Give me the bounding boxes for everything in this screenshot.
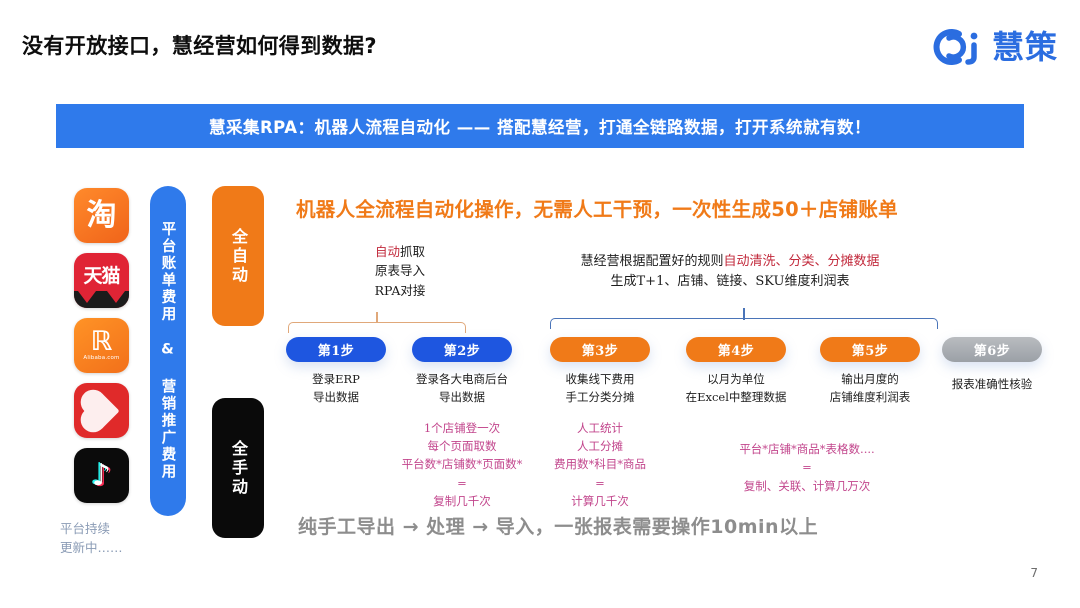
- step-2-desc: 登录各大电商后台 导出数据: [400, 371, 524, 407]
- taobao-glyph: 淘: [87, 201, 117, 231]
- step-1-pill[interactable]: 第1步: [286, 337, 386, 362]
- step-3-pill[interactable]: 第3步: [550, 337, 650, 362]
- step-6[interactable]: 第6步 报表准确性核验: [930, 337, 1054, 394]
- bracket-steps-1-2: [288, 312, 464, 334]
- step-3[interactable]: 第3步 收集线下费用 手工分类分摊 人工统计 人工分摊 费用数*科目*商品 = …: [538, 337, 662, 511]
- mode-manual-capsule: 全手动: [212, 398, 264, 538]
- logo-text: 慧策: [992, 31, 1058, 63]
- step-5-desc: 输出月度的 店铺维度利润表: [808, 371, 932, 407]
- annotation-left-line1-rest: 抓取: [400, 244, 425, 259]
- bracket-left-bar: [288, 322, 466, 333]
- annotation-auto-capture: 自动抓取 原表导入 RPA对接: [330, 242, 470, 300]
- mode-auto-capsule: 全自动: [212, 186, 264, 326]
- step-6-pill[interactable]: 第6步: [942, 337, 1042, 362]
- bracket-right-bar: [550, 318, 938, 329]
- annotation-right-line1-plain: 慧经营根据配置好的规则: [580, 254, 723, 269]
- cost-capsule-label: 平台账单费用 & 营销推广费用: [158, 221, 179, 481]
- annotation-left-line1-hl: 自动: [375, 244, 400, 259]
- slide-canvas: 没有开放接口，慧经营如何得到数据? 慧策 慧采集RPA：机器人流程自动化 —— …: [0, 0, 1080, 608]
- brand-logo: 慧策: [929, 24, 1058, 70]
- step-1-desc: 登录ERP 导出数据: [274, 371, 398, 407]
- step-5-pill[interactable]: 第5步: [820, 337, 920, 362]
- steps-4-5-shared-extra: 平台*店铺*商品*表格数.... = 复制、关联、计算几万次: [672, 440, 942, 495]
- headline-banner: 慧采集RPA：机器人流程自动化 —— 搭配慧经营，打通全链路数据，打开系统就有数…: [56, 104, 1024, 148]
- step-1[interactable]: 第1步 登录ERP 导出数据: [274, 337, 398, 407]
- platform-icon-column: 淘 天猫 ℝ Alibaba.com ♪: [74, 188, 132, 513]
- step-4-desc: 以月为单位 在Excel中整理数据: [674, 371, 798, 407]
- step-6-desc: 报表准确性核验: [930, 376, 1054, 394]
- step-3-extra: 人工统计 人工分摊 费用数*科目*商品 = 计算几千次: [538, 419, 662, 511]
- mode-auto-label: 全自动: [226, 228, 250, 285]
- huice-swirl-logo-icon: [929, 24, 985, 70]
- step-4[interactable]: 第4步 以月为单位 在Excel中整理数据: [674, 337, 798, 407]
- annotation-right-line2: 生成T+1、店铺、链接、SKU维度利润表: [520, 272, 940, 292]
- step-5[interactable]: 第5步 输出月度的 店铺维度利润表: [808, 337, 932, 407]
- mode-manual-label: 全手动: [226, 440, 250, 497]
- annotation-right-line1: 慧经营根据配置好的规则自动清洗、分类、分摊数据: [520, 252, 940, 272]
- page-title: 没有开放接口，慧经营如何得到数据?: [22, 30, 377, 60]
- annotation-left-line3: RPA对接: [330, 281, 470, 300]
- douyin-glyph: ♪: [92, 461, 111, 491]
- tmall-icon: 天猫: [74, 253, 129, 308]
- douyin-icon: ♪: [74, 448, 129, 503]
- heart-icon: [84, 393, 119, 428]
- step-2-extra: 1个店铺登一次 每个页面取数 平台数*店铺数*页面数* = 复制几千次: [400, 419, 524, 511]
- step-4-pill[interactable]: 第4步: [686, 337, 786, 362]
- annotation-right-line1-hl: 自动清洗、分类、分摊数据: [724, 254, 880, 269]
- tmall-glyph: 天猫: [83, 267, 119, 286]
- step-2[interactable]: 第2步 登录各大电商后台 导出数据 1个店铺登一次 每个页面取数 平台数*店铺数…: [400, 337, 524, 511]
- annotation-rules-engine: 慧经营根据配置好的规则自动清洗、分类、分摊数据 生成T+1、店铺、链接、SKU维…: [520, 252, 940, 292]
- main-headline: 机器人全流程自动化操作，无需人工干预，一次性生成50＋店铺账单: [296, 193, 898, 222]
- bracket-steps-3-5: [550, 308, 936, 334]
- tmall-cat-shape: [74, 291, 129, 308]
- step-3-desc: 收集线下费用 手工分类分摊: [538, 371, 662, 407]
- step-2-pill[interactable]: 第2步: [412, 337, 512, 362]
- annotation-left-line1: 自动抓取: [330, 242, 470, 261]
- cost-capsule: 平台账单费用 & 营销推广费用: [150, 186, 186, 516]
- platform-update-note: 平台持续 更新中……: [60, 520, 170, 558]
- page-number: 7: [1030, 566, 1038, 580]
- taobao-icon: 淘: [74, 188, 129, 243]
- banner-text: 慧采集RPA：机器人流程自动化 —— 搭配慧经营，打通全链路数据，打开系统就有数…: [209, 114, 871, 138]
- alibaba-subtext: Alibaba.com: [83, 355, 119, 361]
- alibaba-glyph: ℝ: [91, 330, 113, 354]
- annotation-left-line2: 原表导入: [330, 261, 470, 280]
- jd-icon: [74, 383, 129, 438]
- alibaba-icon: ℝ Alibaba.com: [74, 318, 129, 373]
- manual-summary-line: 纯手工导出 → 处理 → 导入，一张报表需要操作10min以上: [298, 512, 818, 539]
